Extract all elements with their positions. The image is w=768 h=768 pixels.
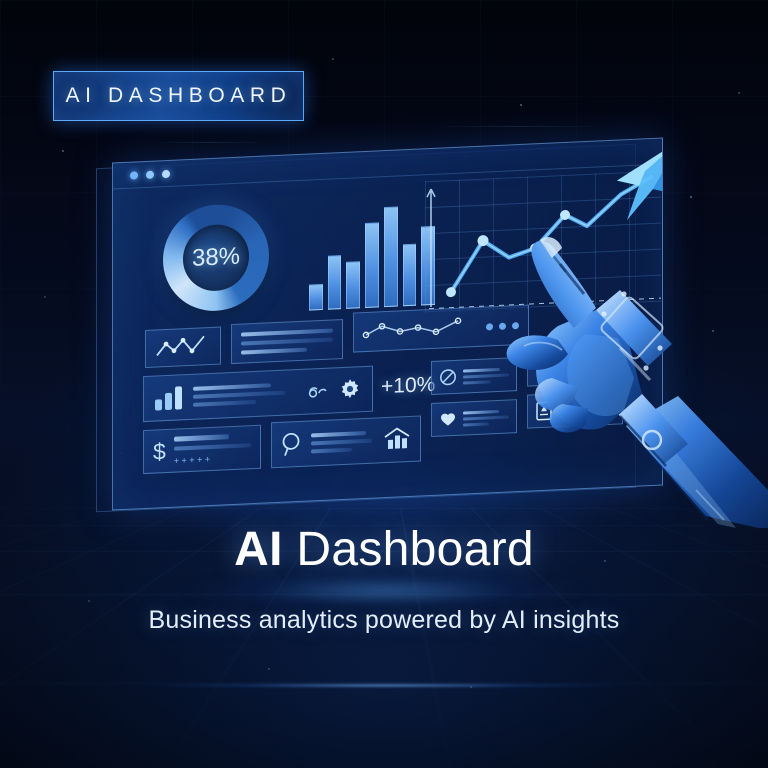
window-dot-red-icon[interactable] [130,171,138,179]
bar-item [309,284,323,311]
window-dot-green-icon[interactable] [162,170,170,178]
link-icon [307,383,329,400]
line-chart-icon [154,333,212,362]
page-title-light: Dashboard [283,523,534,576]
magnifier-icon [281,431,303,458]
robotic-hand-icon [500,228,768,528]
bar-item [365,222,379,308]
revenue-text-lines: + + + + + [174,433,251,466]
bar-item [346,261,360,308]
delta-label: +10% [381,373,435,398]
heart-icon [439,410,457,429]
line-chart-icon [362,314,478,345]
bar-item [384,207,398,307]
badge-ai-dashboard[interactable]: AI DASHBOARD [53,71,304,121]
page-title: AI Dashboard [0,522,768,577]
page-subtitle: Business analytics powered by AI insight… [0,606,768,635]
donut-gauge-chart[interactable]: 38% [163,202,269,313]
card-text-lines[interactable] [231,319,343,364]
poster-canvas: AI DASHBOARD 38% [0,0,768,768]
gear-icon[interactable] [338,377,362,402]
trend-arrow-icon [583,137,663,230]
bar-item [328,255,342,310]
delta-badge: +10% [381,373,435,399]
card-mini-line-chart[interactable] [145,327,221,368]
blocked-icon [439,368,457,387]
bar-chart-icon [154,384,184,411]
bar-chart[interactable] [309,201,435,311]
card-search-insight[interactable] [271,415,421,468]
metric-text-lines [193,382,298,407]
window-dot-yellow-icon[interactable] [146,171,154,179]
dollar-icon: $ [153,438,166,466]
badge-label: AI DASHBOARD [66,84,292,108]
growth-chart-icon [383,427,411,452]
donut-value-label: 38% [192,243,240,273]
search-text-lines [311,431,375,454]
page-title-bold: AI [234,523,283,576]
card-metric-growth[interactable] [143,366,373,422]
card-revenue[interactable]: $ + + + + + [143,425,261,474]
bar-item [403,243,417,306]
